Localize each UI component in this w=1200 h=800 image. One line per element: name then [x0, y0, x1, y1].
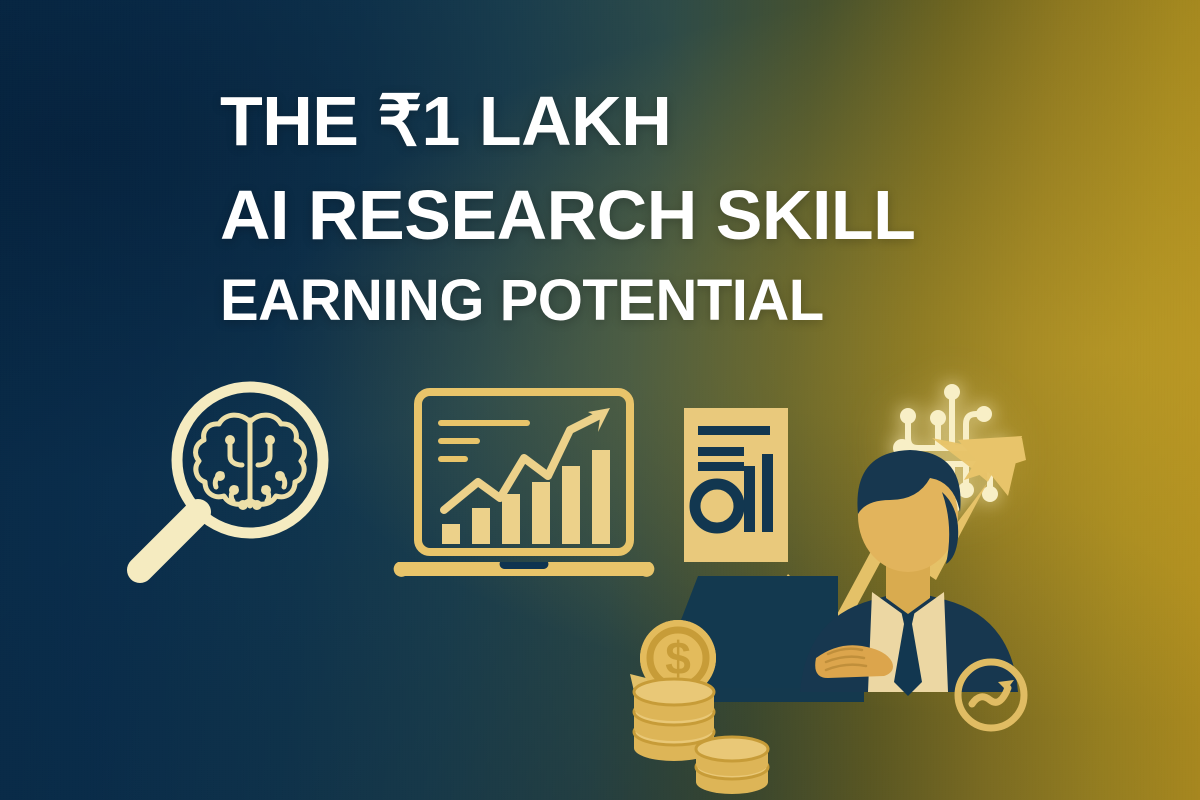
coin-stack-right — [696, 737, 768, 794]
dollar-coins-icon: $ — [618, 616, 808, 800]
headline-line-3: EARNING POTENTIAL — [220, 272, 1080, 330]
svg-text:$: $ — [665, 632, 691, 684]
laptop-bar-chart-icon — [388, 386, 660, 594]
headline-line-2: AI RESEARCH SKILL — [220, 180, 1080, 250]
headline-block: THE ₹1 LAKH AI RESEARCH SKILL EARNING PO… — [220, 86, 1080, 330]
magnifier-brain-icon — [110, 370, 350, 602]
poster-canvas: THE ₹1 LAKH AI RESEARCH SKILL EARNING PO… — [0, 0, 1200, 800]
trend-arrow-badge-icon — [948, 652, 1034, 738]
headline-line-1: THE ₹1 LAKH — [220, 86, 1080, 156]
